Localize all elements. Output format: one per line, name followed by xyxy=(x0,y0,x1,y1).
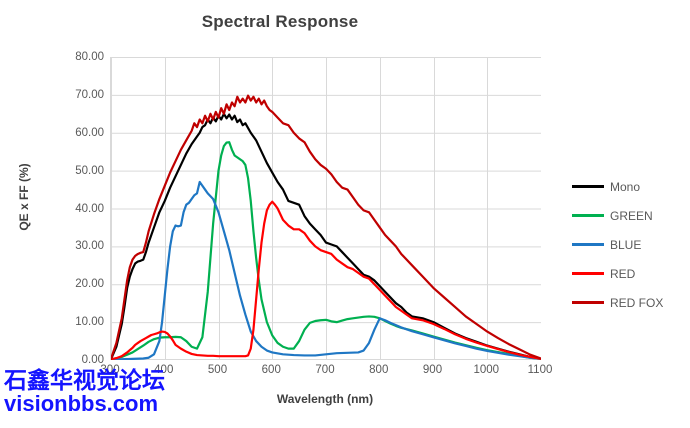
legend-item-mono[interactable]: Mono xyxy=(572,172,687,201)
legend-swatch-icon xyxy=(572,301,604,304)
x-tick-label: 700 xyxy=(295,364,355,376)
legend-item-blue[interactable]: BLUE xyxy=(572,230,687,259)
legend-item-label: Mono xyxy=(610,180,640,194)
x-tick-label: 300 xyxy=(80,364,140,376)
chart-title: Spectral Response xyxy=(0,12,560,32)
plot-area xyxy=(110,57,540,360)
plot-svg xyxy=(111,57,541,360)
legend-item-label: RED FOX xyxy=(610,296,663,310)
legend-item-green[interactable]: GREEN xyxy=(572,201,687,230)
legend-item-label: RED xyxy=(610,267,635,281)
y-axis-title: QE x FF (%) xyxy=(17,137,31,257)
legend-swatch-icon xyxy=(572,185,604,188)
legend-swatch-icon xyxy=(572,243,604,246)
x-axis-title: Wavelength (nm) xyxy=(110,392,540,406)
x-tick-label: 800 xyxy=(349,364,409,376)
legend-item-red[interactable]: RED xyxy=(572,259,687,288)
legend-item-label: GREEN xyxy=(610,209,653,223)
legend-swatch-icon xyxy=(572,272,604,275)
x-tick-label: 500 xyxy=(188,364,248,376)
x-tick-label: 1000 xyxy=(456,364,516,376)
x-tick-label: 600 xyxy=(241,364,301,376)
y-tick-label: 10.00 xyxy=(4,316,104,328)
y-tick-label: 80.00 xyxy=(4,51,104,63)
x-tick-label: 1100 xyxy=(510,364,570,376)
x-tick-label: 400 xyxy=(134,364,194,376)
chart-legend: MonoGREENBLUEREDRED FOX xyxy=(572,172,687,317)
y-tick-label: 70.00 xyxy=(4,89,104,101)
y-tick-label: 20.00 xyxy=(4,278,104,290)
legend-item-label: BLUE xyxy=(610,238,641,252)
legend-swatch-icon xyxy=(572,214,604,217)
x-tick-label: 900 xyxy=(403,364,463,376)
spectral-response-chart: Spectral Response 0.0010.0020.0030.0040.… xyxy=(0,0,690,428)
legend-item-red-fox[interactable]: RED FOX xyxy=(572,288,687,317)
